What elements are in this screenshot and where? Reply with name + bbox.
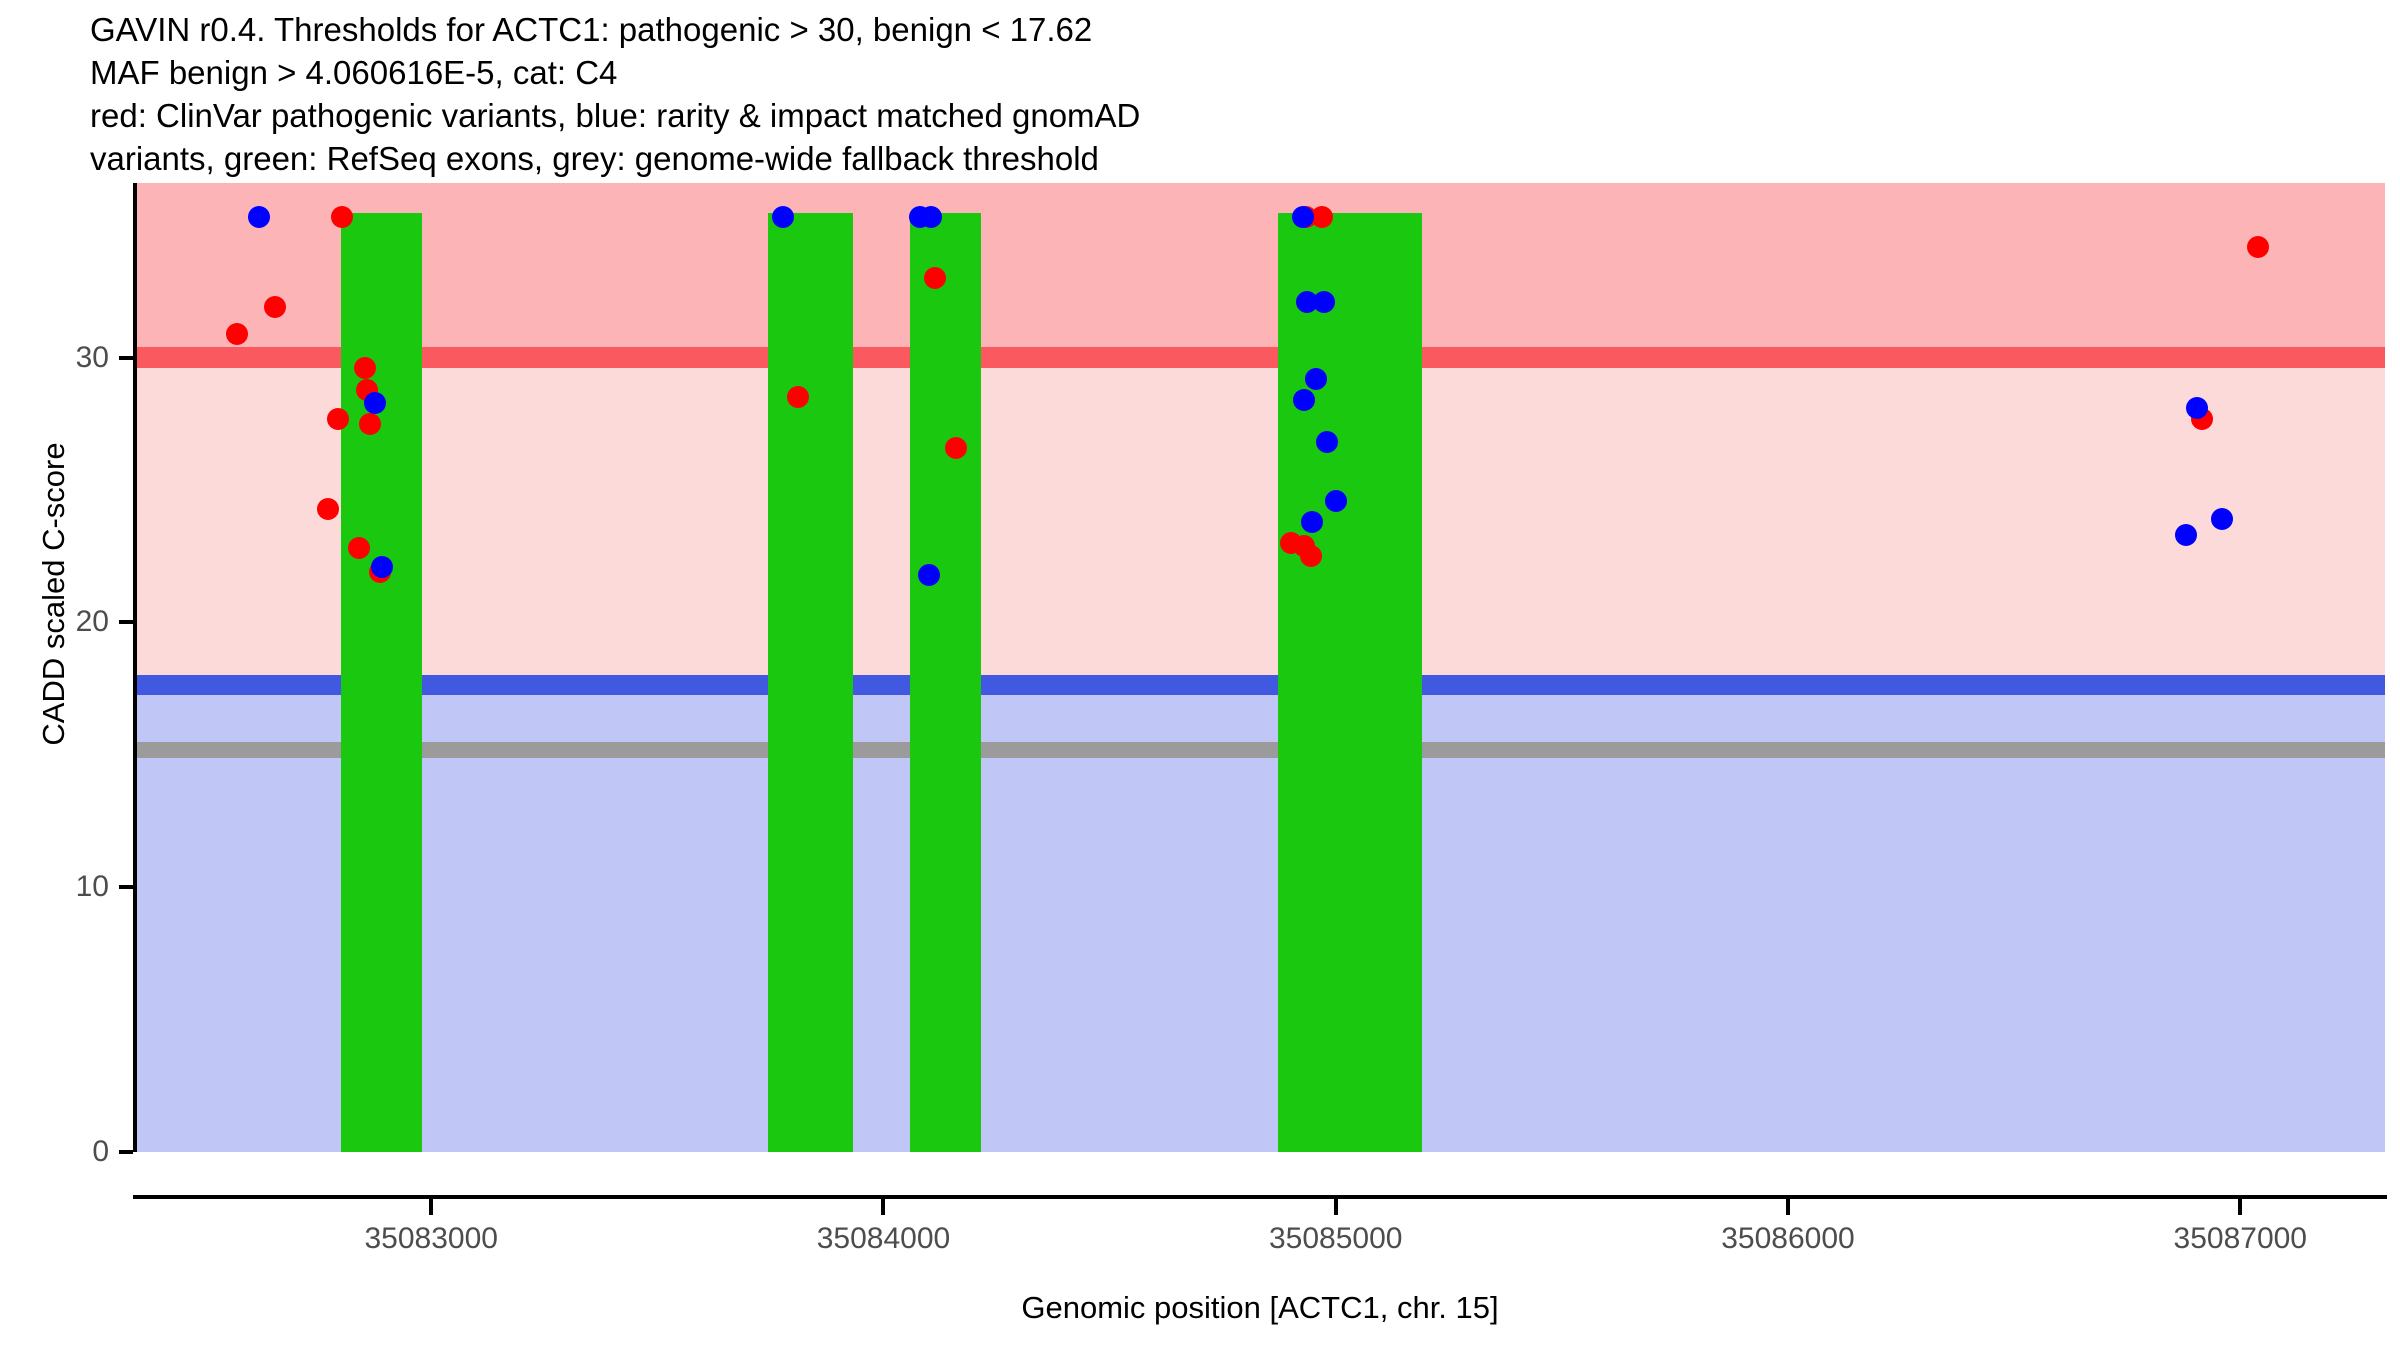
x-tick-label: 35084000 <box>753 1222 1013 1256</box>
y-axis-line <box>133 183 137 1152</box>
y-tick-label: 20 <box>0 605 109 639</box>
x-tick-label: 35085000 <box>1206 1222 1466 1256</box>
clinvar-variant-point <box>327 408 349 430</box>
x-tick-mark <box>429 1199 433 1215</box>
clinvar-variant-point <box>945 437 967 459</box>
y-tick-label: 0 <box>0 1135 109 1169</box>
exon-3 <box>910 213 981 1152</box>
x-axis-title: Genomic position [ACTC1, chr. 15] <box>135 1290 2385 1326</box>
gnomad-variant-point <box>920 206 942 228</box>
chart-title: GAVIN r0.4. Thresholds for ACTC1: pathog… <box>90 8 2370 180</box>
gnomad-variant-point <box>364 392 386 414</box>
x-axis-line <box>133 1195 2387 1199</box>
clinvar-variant-point <box>924 267 946 289</box>
gnomad-variant-point <box>2175 524 2197 546</box>
x-tick-mark <box>1334 1199 1338 1215</box>
clinvar-variant-point <box>2247 236 2269 258</box>
exon-2 <box>768 213 853 1152</box>
pathogenic-upper-band <box>135 183 2385 358</box>
title-line-3: red: ClinVar pathogenic variants, blue: … <box>90 94 2370 137</box>
x-tick-mark <box>881 1199 885 1215</box>
x-tick-label: 35086000 <box>1658 1222 1918 1256</box>
plot-panel <box>135 183 2385 1152</box>
vus-band <box>135 368 2385 685</box>
x-tick-mark <box>2238 1199 2242 1215</box>
title-line-4: variants, green: RefSeq exons, grey: gen… <box>90 137 2370 180</box>
exon-4 <box>1278 213 1421 1152</box>
y-tick-mark <box>119 885 133 889</box>
clinvar-variant-point <box>317 498 339 520</box>
y-tick-mark <box>119 1150 133 1154</box>
gnomad-variant-point <box>1316 431 1338 453</box>
clinvar-variant-point <box>331 206 353 228</box>
x-tick-label: 35087000 <box>2110 1222 2370 1256</box>
y-tick-mark <box>119 356 133 360</box>
gnomad-variant-point <box>1313 291 1335 313</box>
gnomad-variant-point <box>1305 368 1327 390</box>
clinvar-variant-point <box>226 323 248 345</box>
genome-wide-fallback-line <box>135 742 2385 758</box>
gnomad-variant-point <box>1325 490 1347 512</box>
y-tick-mark <box>119 620 133 624</box>
gnomad-variant-point <box>1301 511 1323 533</box>
y-tick-label: 30 <box>0 341 109 375</box>
x-tick-label: 35083000 <box>301 1222 561 1256</box>
title-line-1: GAVIN r0.4. Thresholds for ACTC1: pathog… <box>90 8 2370 51</box>
chart-root: GAVIN r0.4. Thresholds for ACTC1: pathog… <box>0 0 2400 1350</box>
y-tick-label: 10 <box>0 870 109 904</box>
benign-threshold-line <box>135 675 2385 695</box>
clinvar-variant-point <box>359 413 381 435</box>
exon-1 <box>341 213 422 1152</box>
x-tick-mark <box>1786 1199 1790 1215</box>
gnomad-variant-point <box>772 206 794 228</box>
pathogenic-threshold-line <box>135 347 2385 368</box>
benign-band <box>135 695 2385 1152</box>
gnomad-variant-point <box>918 564 940 586</box>
title-line-2: MAF benign > 4.060616E-5, cat: C4 <box>90 51 2370 94</box>
